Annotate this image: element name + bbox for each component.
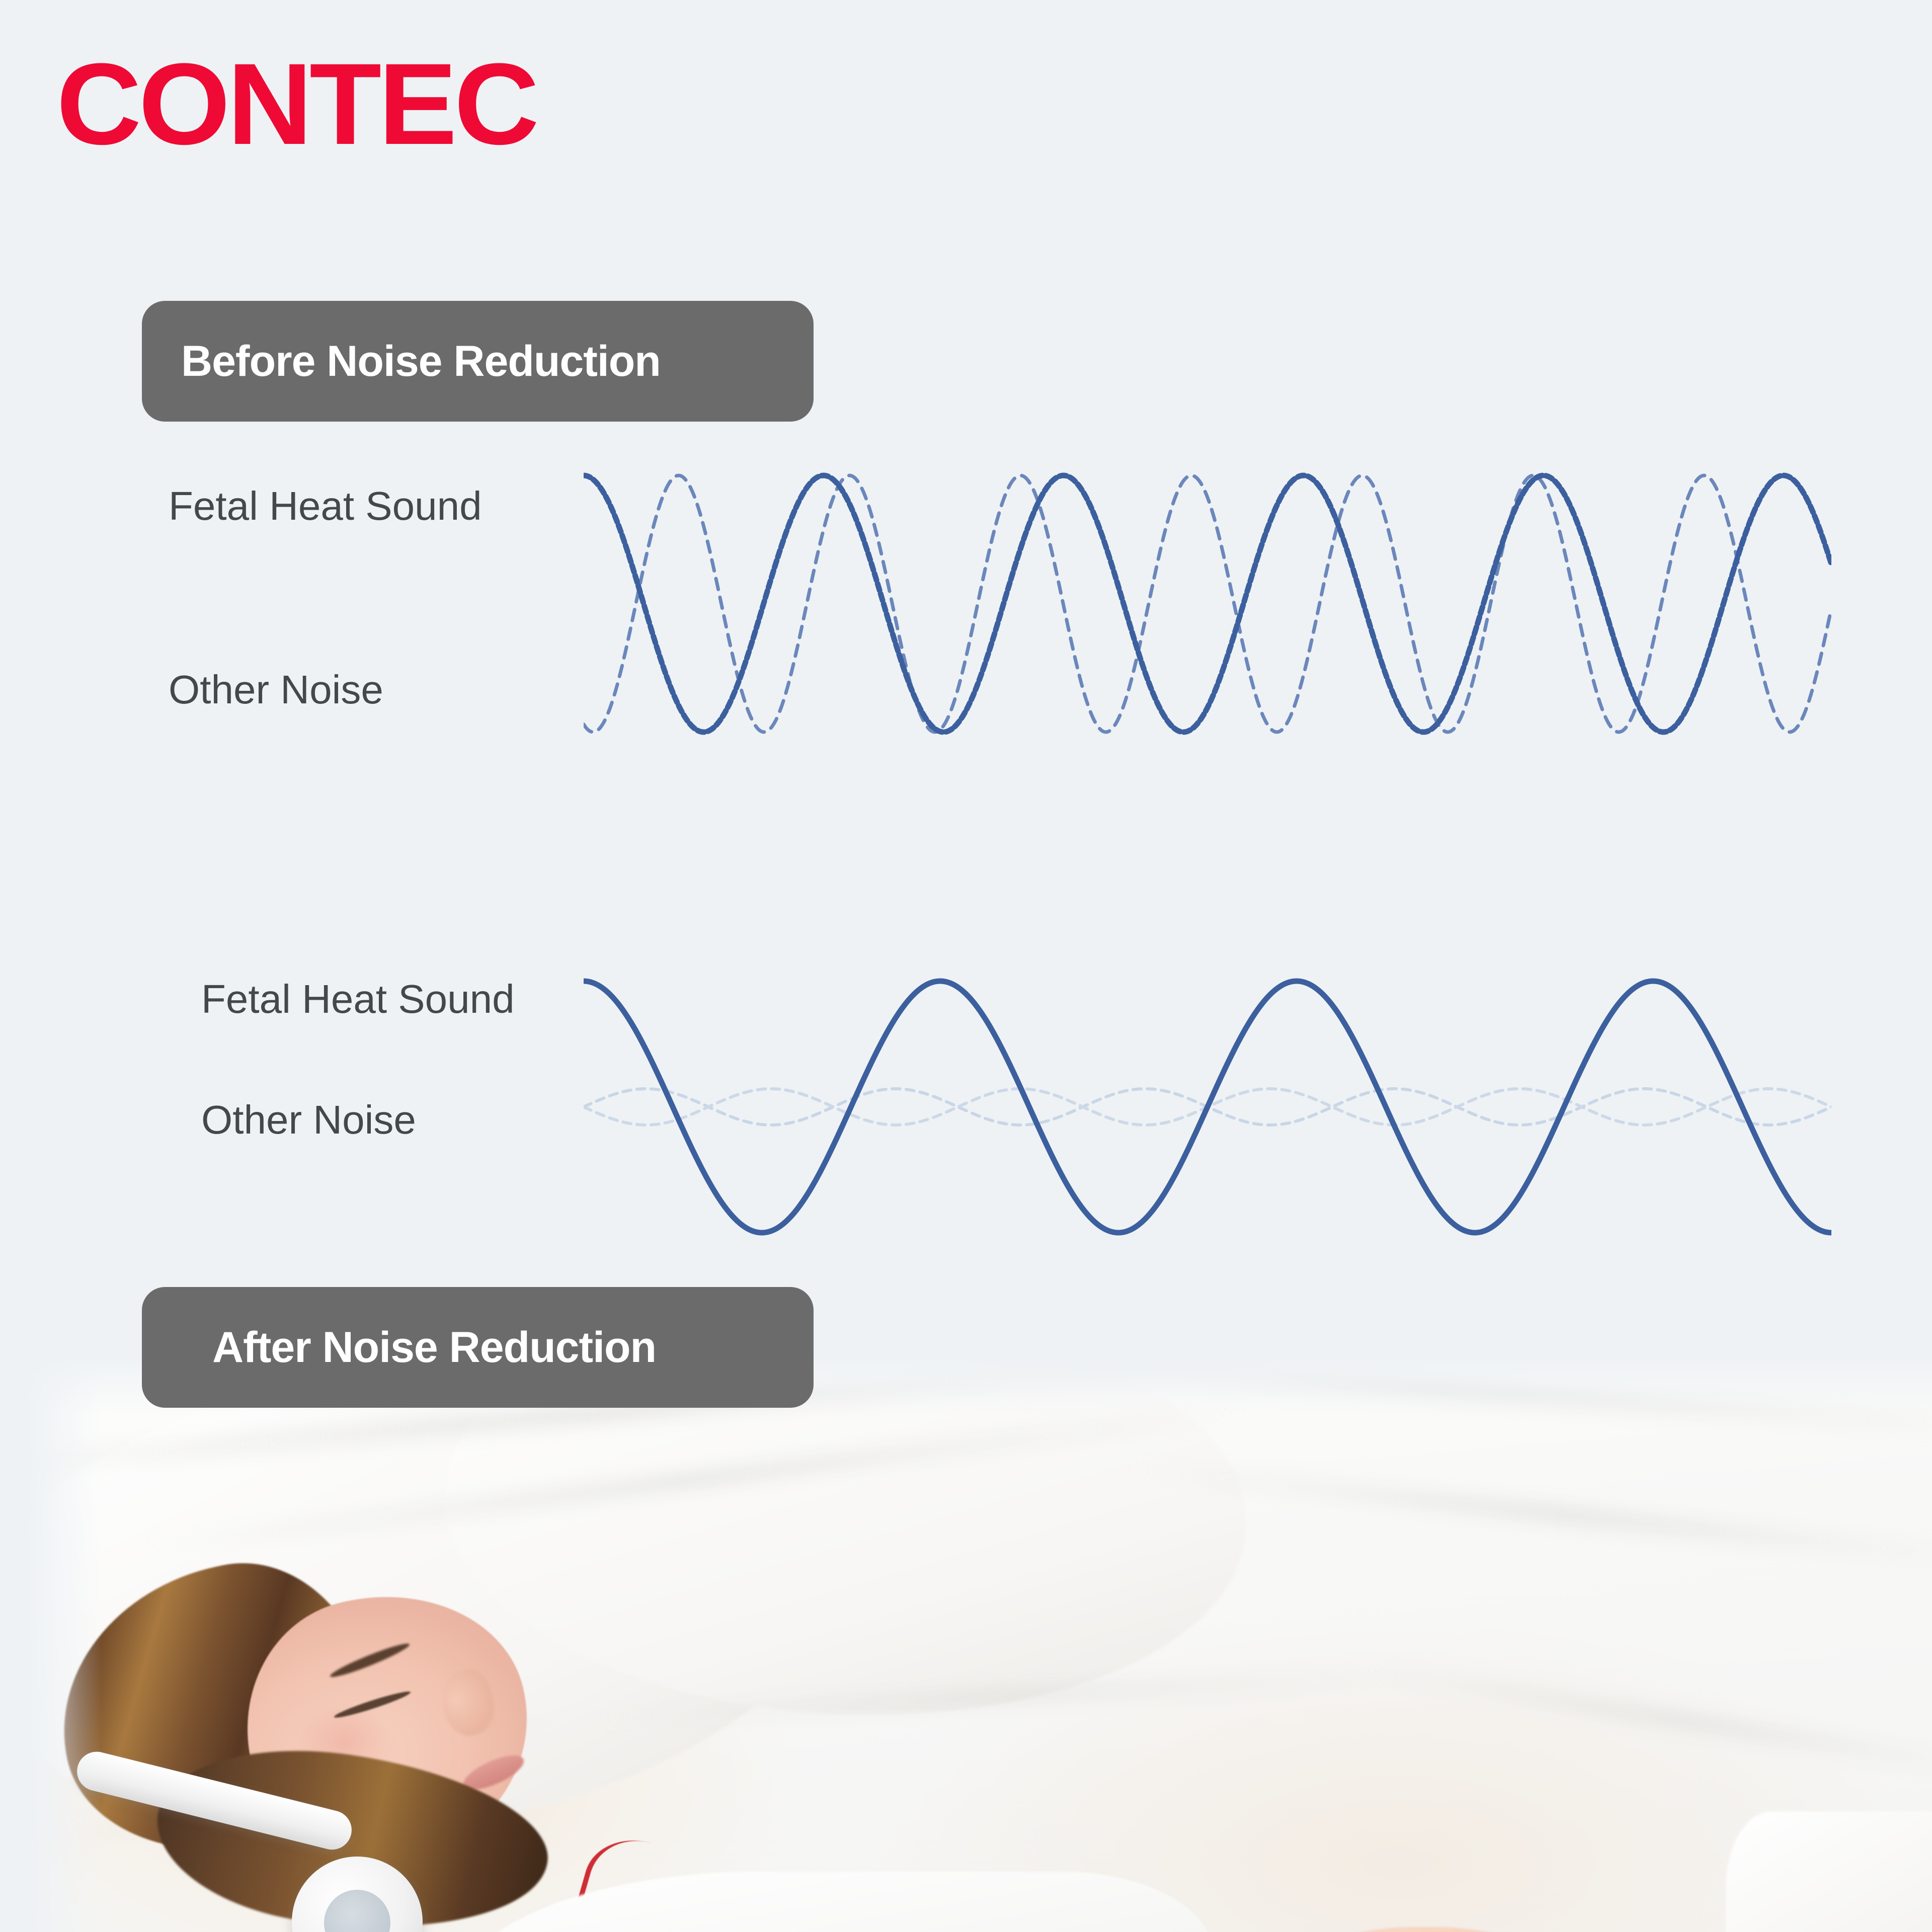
wave-path-fetal-heat-sound-before xyxy=(584,475,1831,732)
badge-after-noise-reduction: After Noise Reduction xyxy=(142,1287,814,1408)
contec-logo: CONTEC xyxy=(56,46,536,162)
waveform-before-noise-reduction xyxy=(584,468,1831,760)
badge-before-noise-reduction: Before Noise Reduction xyxy=(142,301,814,422)
wave-path-fetal-heat-sound-after xyxy=(584,981,1831,1233)
pregnant-woman-photo xyxy=(25,1358,1932,1932)
label-after-other-noise: Other Noise xyxy=(201,1097,416,1143)
badge-before-label: Before Noise Reduction xyxy=(181,337,661,386)
badge-after-label: After Noise Reduction xyxy=(212,1323,656,1373)
poster-canvas: CONTEC Before Noise Reduction Fetal Heat… xyxy=(0,0,1932,1932)
label-before-other-noise: Other Noise xyxy=(169,667,383,713)
waveform-before-svg xyxy=(584,468,1831,760)
wave-path-other-noise-before xyxy=(584,475,1831,732)
label-after-fetal-heat-sound: Fetal Heat Sound xyxy=(201,976,515,1022)
waveform-after-svg xyxy=(584,961,1831,1263)
label-before-fetal-heat-sound: Fetal Heat Sound xyxy=(169,483,482,529)
waveform-after-noise-reduction xyxy=(584,961,1831,1263)
bed-sheet-right xyxy=(1726,1811,1932,1932)
